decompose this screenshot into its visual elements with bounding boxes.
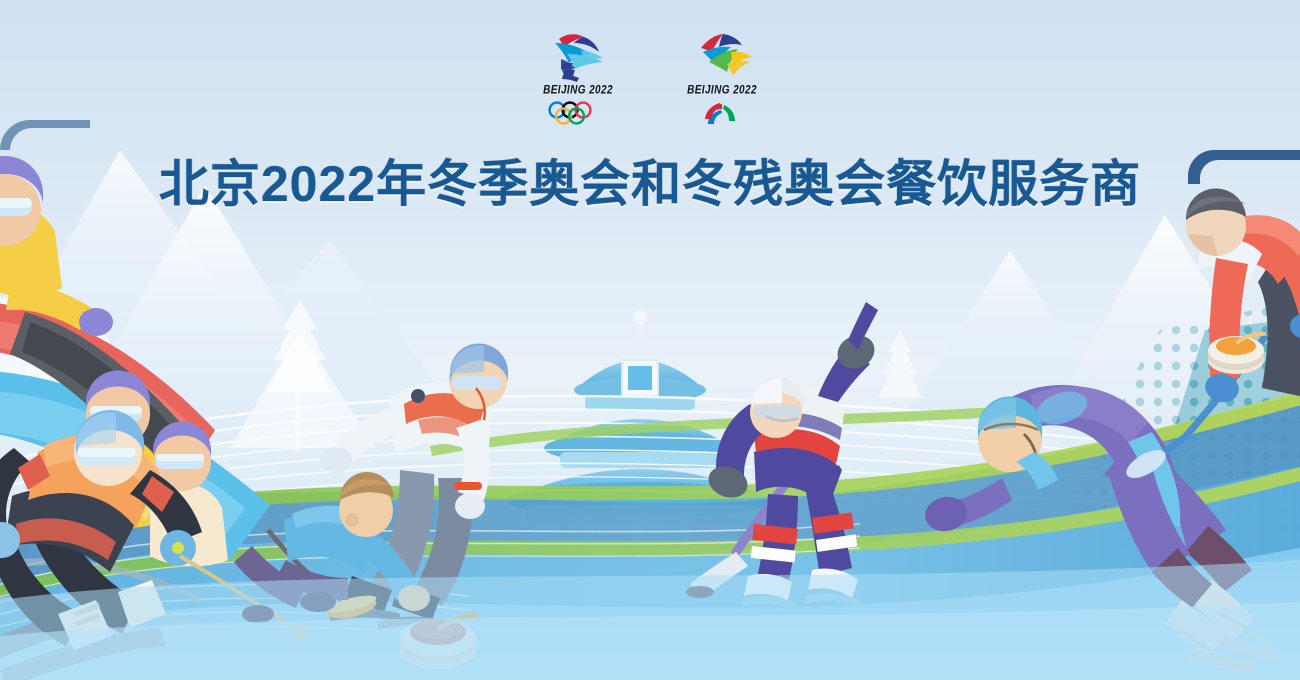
paralympic-agitos-icon xyxy=(697,101,747,125)
olympic-wordmark: BEIJING 2022 xyxy=(543,84,613,97)
paralympic-agitos-wrap xyxy=(697,101,747,125)
beijing-2022-paralympic-emblem xyxy=(681,30,763,82)
beijing-2022-olympic-emblem xyxy=(537,30,619,82)
paralympic-emblem-block: BEIJING 2022 xyxy=(674,30,770,125)
beijing-2022-banner: BEIJING 2022 xyxy=(0,0,1300,680)
paralympic-wordmark: BEIJING 2022 xyxy=(687,84,757,97)
olympic-emblem-block: BEIJING 2022 xyxy=(530,30,626,125)
olympic-rings-icon xyxy=(546,101,610,125)
emblem-row: BEIJING 2022 xyxy=(0,30,1300,125)
olympic-rings-wrap xyxy=(546,101,610,125)
page-title: 北京2022年冬季奥会和冬残奥会餐饮服务商 xyxy=(0,144,1300,216)
